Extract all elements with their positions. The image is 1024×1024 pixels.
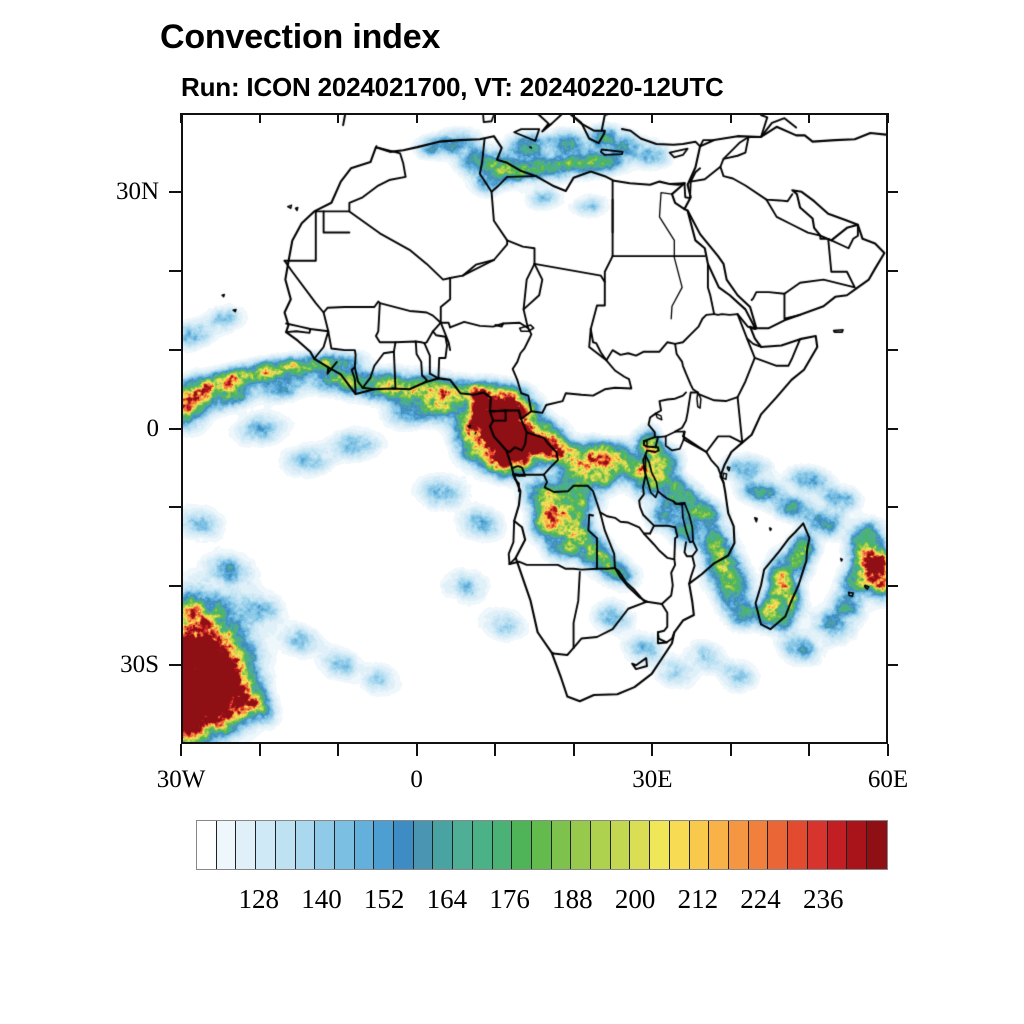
colorbar-cell xyxy=(256,821,276,869)
y-axis-tick xyxy=(169,428,181,430)
colorbar-cell xyxy=(414,821,434,869)
x-axis-tick xyxy=(651,744,653,756)
x-axis-tick-top xyxy=(651,113,653,123)
y-axis-tick xyxy=(169,664,181,666)
colorbar-tick-label: 152 xyxy=(364,884,405,915)
y-axis-tick-right xyxy=(888,349,898,351)
x-axis-tick xyxy=(337,744,339,756)
colorbar-cell xyxy=(512,821,532,869)
page-title: Convection index xyxy=(160,18,440,57)
colorbar-cell xyxy=(768,821,788,869)
x-axis-tick-top xyxy=(730,113,732,123)
x-axis-label: 30W xyxy=(157,766,206,794)
y-axis-tick xyxy=(169,585,181,587)
x-axis-tick-top xyxy=(337,113,339,123)
colorbar-cell xyxy=(808,821,828,869)
run-validtime-subtitle: Run: ICON 2024021700, VT: 20240220-12UTC xyxy=(181,72,724,103)
colorbar-cell xyxy=(217,821,237,869)
colorbar-cell xyxy=(296,821,316,869)
colorbar-tick-label: 128 xyxy=(238,884,279,915)
colorbar-cell xyxy=(433,821,453,869)
colorbar-cell xyxy=(473,821,493,869)
colorbar-cell xyxy=(670,821,690,869)
colorbar-tick-label: 140 xyxy=(301,884,342,915)
y-axis-tick-right xyxy=(888,664,898,666)
y-axis-tick xyxy=(169,349,181,351)
colorbar-cell xyxy=(709,821,729,869)
colorbar-cell xyxy=(315,821,335,869)
colorbar-tick-label: 224 xyxy=(740,884,781,915)
colorbar-cell xyxy=(867,821,887,869)
x-axis-tick xyxy=(808,744,810,756)
x-axis-tick xyxy=(416,744,418,756)
colorbar-tick-label: 176 xyxy=(489,884,530,915)
colorbar-cell xyxy=(532,821,552,869)
convection-index-map xyxy=(183,115,886,742)
x-axis-label: 60E xyxy=(868,766,908,794)
map-plot-area xyxy=(181,113,888,744)
x-axis-tick xyxy=(887,744,889,756)
colorbar-cell xyxy=(749,821,769,869)
y-axis-tick-right xyxy=(888,428,898,430)
x-axis-tick xyxy=(180,744,182,756)
colorbar-tick-label: 236 xyxy=(803,884,844,915)
x-axis-label: 0 xyxy=(410,766,423,794)
y-axis-tick xyxy=(169,191,181,193)
x-axis-tick-top xyxy=(494,113,496,123)
x-axis-label: 30E xyxy=(632,766,672,794)
y-axis-tick xyxy=(169,506,181,508)
colorbar-tick-label: 212 xyxy=(678,884,719,915)
colorbar-cell xyxy=(552,821,572,869)
colorbar-tick-label: 188 xyxy=(552,884,593,915)
colorbar-cell xyxy=(650,821,670,869)
colorbar-cell xyxy=(788,821,808,869)
x-axis-tick-top xyxy=(887,113,889,123)
colorbar-cell xyxy=(276,821,296,869)
convection-index-chart: Convection index Run: ICON 2024021700, V… xyxy=(0,0,1024,1024)
x-axis-tick-top xyxy=(259,113,261,123)
colorbar-cell xyxy=(591,821,611,869)
x-axis-tick-top xyxy=(180,113,182,123)
colorbar-tick-labels: 128140152164176188200212224236 xyxy=(0,884,1024,918)
colorbar-cell xyxy=(690,821,710,869)
y-axis-label: 30S xyxy=(0,651,159,679)
colorbar-cell xyxy=(847,821,867,869)
colorbar-cell xyxy=(374,821,394,869)
y-axis-tick-right xyxy=(888,585,898,587)
y-axis-tick-right xyxy=(888,506,898,508)
x-axis-tick-top xyxy=(416,113,418,123)
colorbar-tick-label: 200 xyxy=(615,884,656,915)
x-axis-tick xyxy=(494,744,496,756)
x-axis-tick xyxy=(730,744,732,756)
colorbar-cell xyxy=(493,821,513,869)
colorbar-cell xyxy=(571,821,591,869)
colorbar-cell xyxy=(453,821,473,869)
colorbar-cell xyxy=(611,821,631,869)
y-axis-tick xyxy=(169,270,181,272)
y-axis-label: 0 xyxy=(0,415,159,443)
y-axis-tick-right xyxy=(888,270,898,272)
colorbar-cell xyxy=(236,821,256,869)
colorbar-cell xyxy=(828,821,848,869)
y-axis-label: 30N xyxy=(0,178,159,206)
x-axis-tick xyxy=(259,744,261,756)
colorbar-cell xyxy=(394,821,414,869)
x-axis-tick-top xyxy=(573,113,575,123)
colorbar-cell xyxy=(630,821,650,869)
x-axis-tick xyxy=(573,744,575,756)
y-axis-tick-right xyxy=(888,191,898,193)
colorbar xyxy=(196,820,888,870)
colorbar-cell xyxy=(729,821,749,869)
colorbar-cell xyxy=(335,821,355,869)
colorbar-cell xyxy=(355,821,375,869)
x-axis-tick-top xyxy=(808,113,810,123)
colorbar-tick-label: 164 xyxy=(427,884,468,915)
colorbar-cell xyxy=(197,821,217,869)
